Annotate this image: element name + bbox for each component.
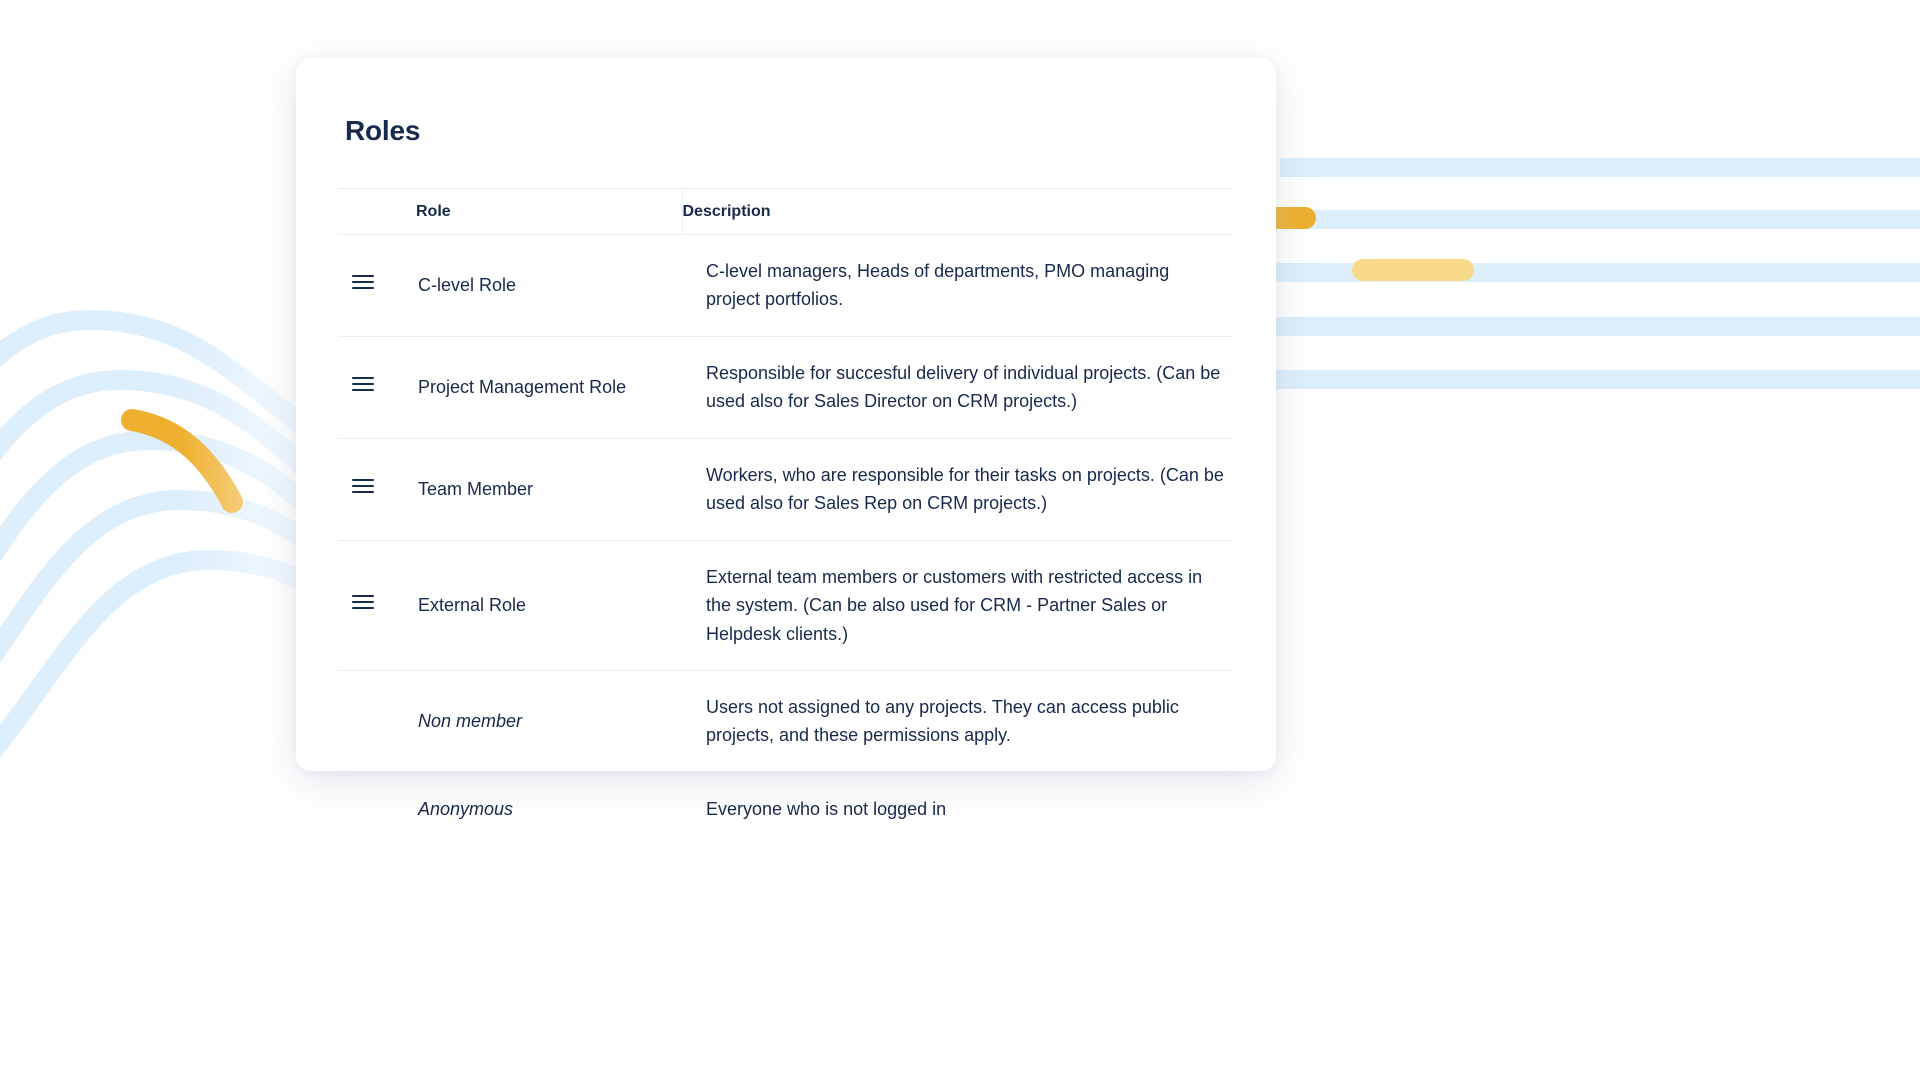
drag-handle-icon[interactable] xyxy=(352,377,374,393)
roles-table: Role Description C-level Role C-level ma… xyxy=(338,188,1232,845)
role-description-cell: Responsible for succesful delivery of in… xyxy=(682,336,1232,438)
drag-handle-line xyxy=(352,281,374,283)
column-header-description: Description xyxy=(682,189,1232,235)
drag-handle-line xyxy=(352,595,374,597)
drag-handle-line xyxy=(352,479,374,481)
drag-handle-line xyxy=(352,383,374,385)
roles-card: Roles Role Description C-level Role xyxy=(296,58,1276,771)
row-handle-cell xyxy=(338,336,416,438)
drag-handle-icon[interactable] xyxy=(352,595,374,611)
table-header: Role Description xyxy=(338,189,1232,235)
drag-handle-line xyxy=(352,389,374,391)
drag-handle-line xyxy=(352,485,374,487)
table-header-row: Role Description xyxy=(338,189,1232,235)
role-description-cell: C-level managers, Heads of departments, … xyxy=(682,235,1232,337)
decor-bar-yellow-2 xyxy=(1352,259,1474,281)
row-handle-cell xyxy=(338,235,416,337)
table-row: Team Member Workers, who are responsible… xyxy=(338,438,1232,540)
role-name: Team Member xyxy=(418,479,533,499)
role-name: C-level Role xyxy=(418,275,516,295)
role-name: Non member xyxy=(418,711,522,731)
column-header-role: Role xyxy=(416,189,682,235)
decor-bar-blue-2 xyxy=(1260,210,1920,229)
row-handle-cell xyxy=(338,772,416,845)
decor-bar-blue-1 xyxy=(1280,158,1920,177)
role-name: External Role xyxy=(418,595,526,615)
role-description-cell: Workers, who are responsible for their t… xyxy=(682,438,1232,540)
table-body: C-level Role C-level managers, Heads of … xyxy=(338,235,1232,846)
drag-handle-line xyxy=(352,377,374,379)
role-description-cell: Users not assigned to any projects. They… xyxy=(682,670,1232,772)
drag-handle-icon[interactable] xyxy=(352,479,374,495)
role-description-cell: Everyone who is not logged in xyxy=(682,772,1232,845)
table-row: Project Management Role Responsible for … xyxy=(338,336,1232,438)
drag-handle-line xyxy=(352,601,374,603)
drag-handle-line xyxy=(352,287,374,289)
column-header-handle xyxy=(338,189,416,235)
role-name-cell: Anonymous xyxy=(416,772,682,845)
table-row: Anonymous Everyone who is not logged in xyxy=(338,772,1232,845)
role-name: Anonymous xyxy=(418,799,513,819)
table-row: C-level Role C-level managers, Heads of … xyxy=(338,235,1232,337)
role-name-cell: C-level Role xyxy=(416,235,682,337)
drag-handle-line xyxy=(352,491,374,493)
row-handle-cell xyxy=(338,670,416,772)
table-row: Non member Users not assigned to any pro… xyxy=(338,670,1232,772)
drag-handle-icon[interactable] xyxy=(352,275,374,291)
decor-bar-blue-4 xyxy=(1272,317,1920,336)
role-name-cell: External Role xyxy=(416,540,682,670)
role-name-cell: Non member xyxy=(416,670,682,772)
row-handle-cell xyxy=(338,438,416,540)
page-title: Roles xyxy=(296,58,1276,147)
decor-bar-blue-5 xyxy=(1265,370,1920,389)
role-name: Project Management Role xyxy=(418,377,626,397)
role-description-cell: External team members or customers with … xyxy=(682,540,1232,670)
row-handle-cell xyxy=(338,540,416,670)
role-name-cell: Team Member xyxy=(416,438,682,540)
table-row: External Role External team members or c… xyxy=(338,540,1232,670)
gantt-style-bars xyxy=(1200,150,1920,470)
role-name-cell: Project Management Role xyxy=(416,336,682,438)
drag-handle-line xyxy=(352,275,374,277)
drag-handle-line xyxy=(352,607,374,609)
